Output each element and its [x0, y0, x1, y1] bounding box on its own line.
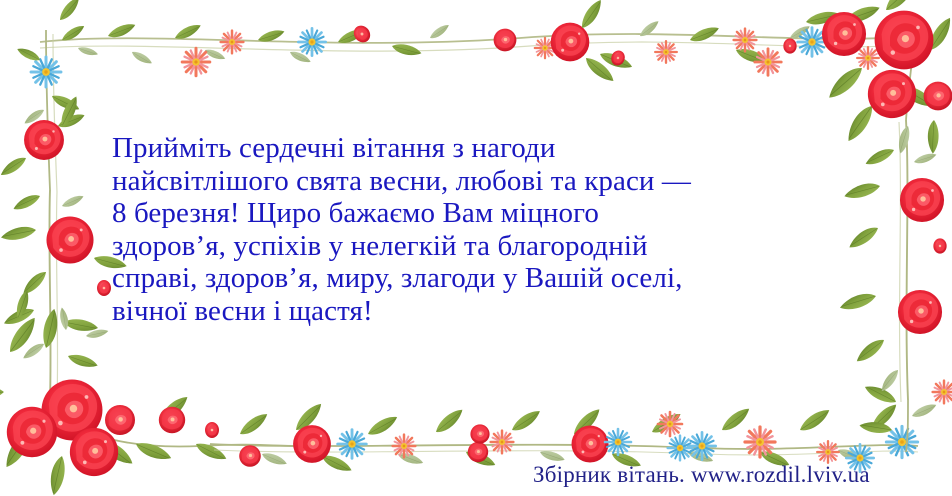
- greeting-line: справі, здоров’я, миру, злагоди у Вашій …: [112, 262, 812, 295]
- left-border-vine: [0, 95, 128, 402]
- top-border-vine: [40, 0, 952, 86]
- top-left-corner-cornflower: [16, 0, 87, 192]
- bottom-right-corner-cornflower: [859, 381, 939, 452]
- right-border-vine: [838, 120, 952, 403]
- greeting-text-block: Прийміть сердечні вітання з нагоди найсв…: [112, 132, 812, 327]
- greeting-line: Прийміть сердечні вітання з нагоди: [112, 132, 812, 165]
- greeting-card: Прийміть сердечні вітання з нагоди найсв…: [0, 0, 952, 496]
- source-watermark: Збірник вітань. www.rozdil.lviv.ua: [533, 462, 870, 488]
- greeting-line: найсвітлішого свята весни, любові та кра…: [112, 165, 812, 198]
- greeting-line: здоров’я, успіхів у нелегкій та благород…: [112, 230, 812, 263]
- greeting-line: 8 березня! Щиро бажаємо Вам міцного: [112, 197, 812, 230]
- greeting-line: вічної весни і щастя!: [112, 295, 812, 328]
